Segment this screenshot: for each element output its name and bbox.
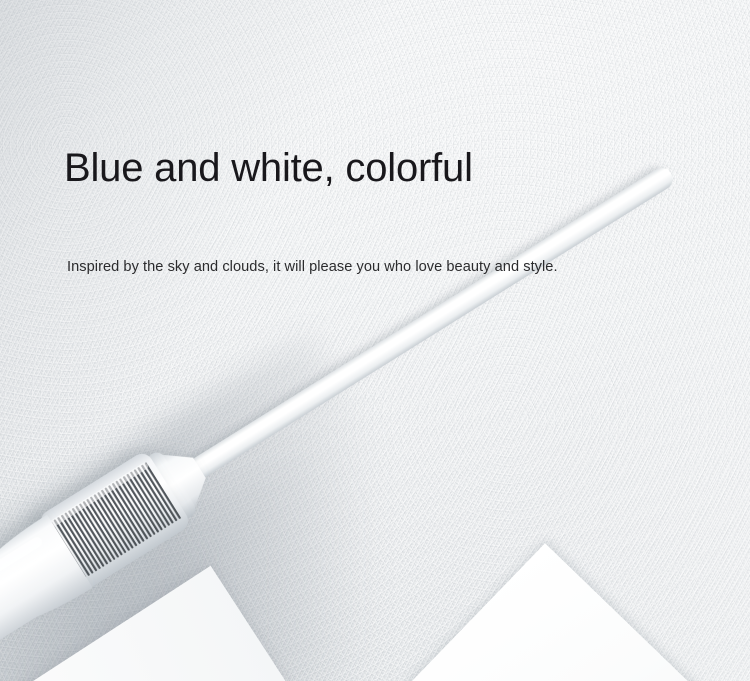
product-banner: Blue and white, colorful Inspired by the… bbox=[0, 0, 750, 681]
page-subtitle: Inspired by the sky and clouds, it will … bbox=[67, 259, 558, 275]
page-title: Blue and white, colorful bbox=[64, 146, 473, 191]
